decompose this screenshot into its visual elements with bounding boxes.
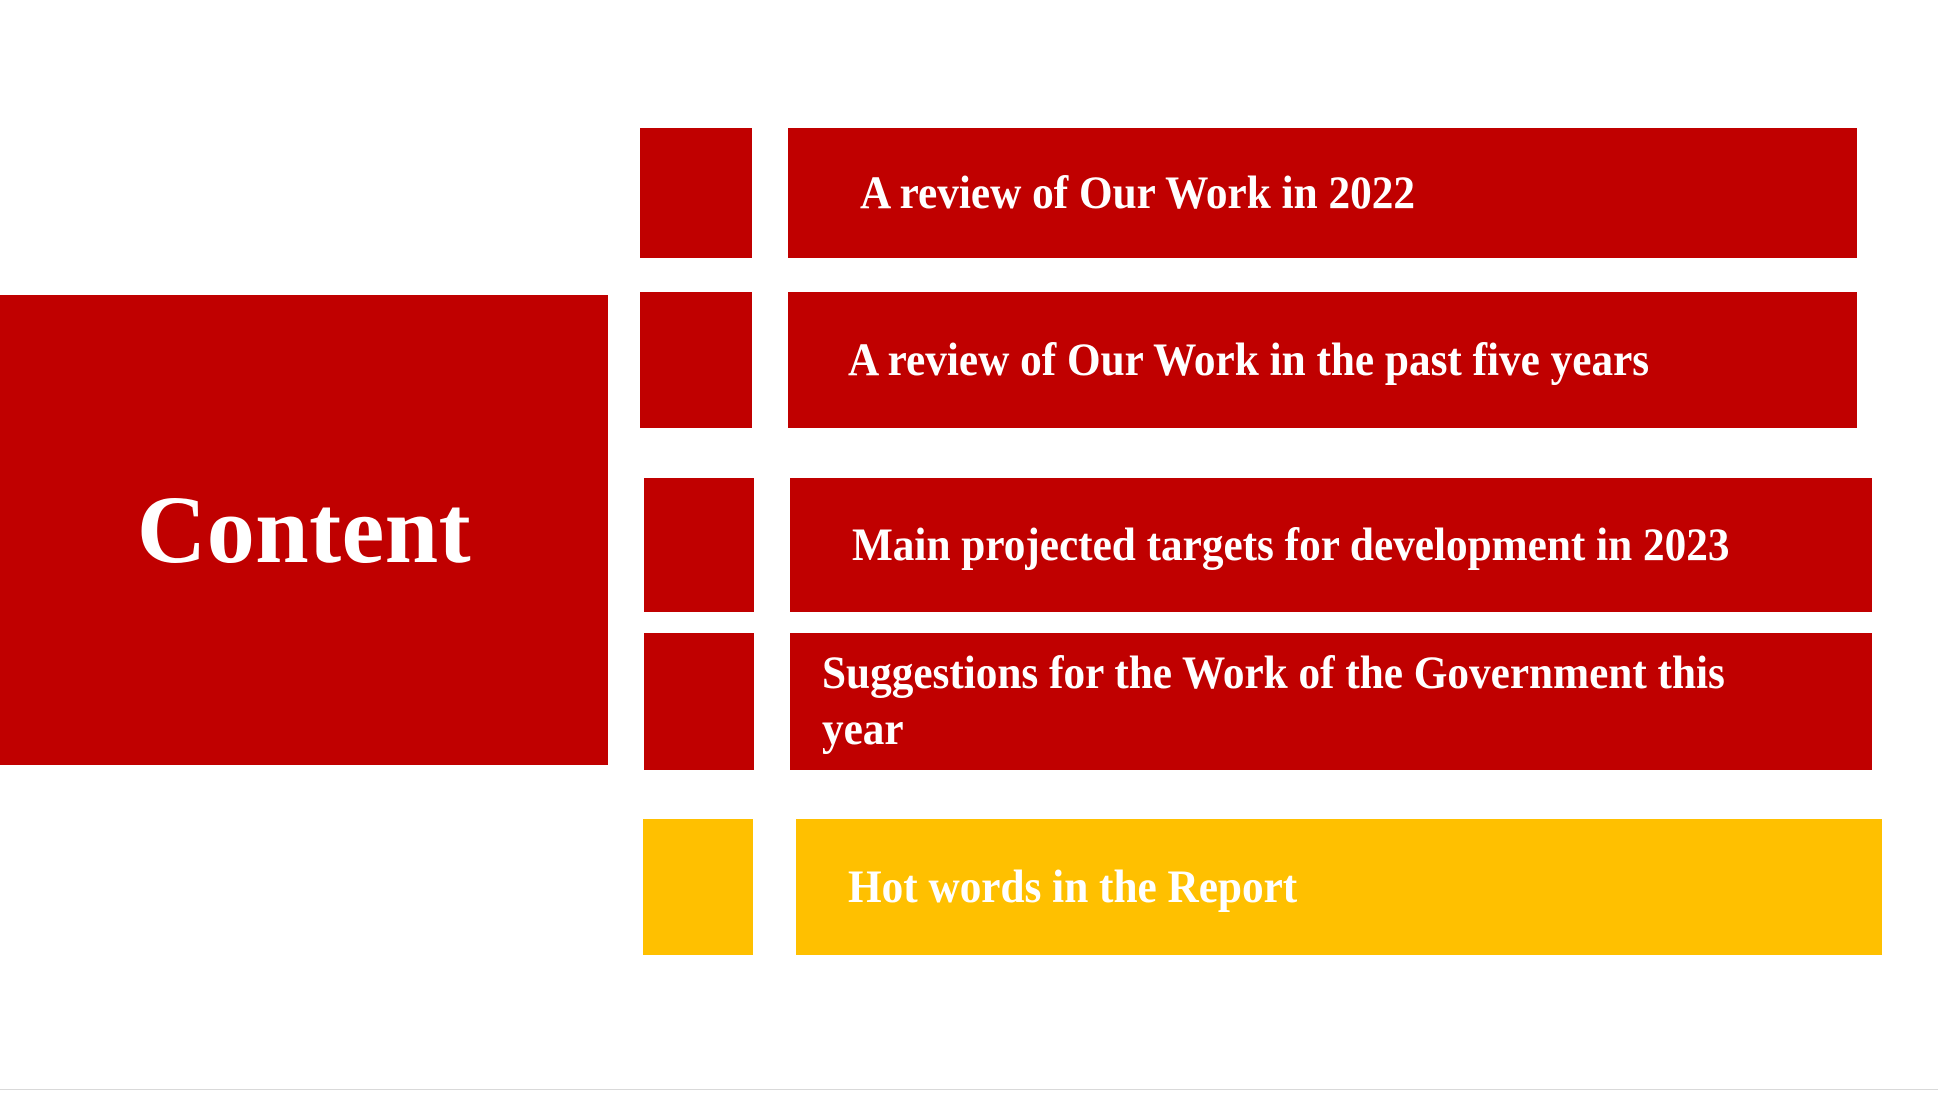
agenda-marker-5 <box>643 819 753 955</box>
slide-bottom-divider <box>0 1089 1938 1090</box>
agenda-bar-4[interactable]: Suggestions for the Work of the Governme… <box>790 633 1872 770</box>
agenda-marker-2 <box>640 292 752 428</box>
agenda-label-1: A review of Our Work in 2022 <box>860 164 1757 223</box>
agenda-label-3: Main projected targets for development i… <box>852 516 1774 575</box>
agenda-label-4: Suggestions for the Work of the Governme… <box>822 646 1771 757</box>
agenda-list: A review of Our Work in 2022 A review of… <box>0 0 1938 1095</box>
slide-canvas: Content A review of Our Work in 2022 A r… <box>0 0 1938 1095</box>
agenda-label-5: Hot words in the Report <box>848 858 1783 917</box>
agenda-bar-3[interactable]: Main projected targets for development i… <box>790 478 1872 612</box>
agenda-marker-1 <box>640 128 752 258</box>
agenda-marker-3 <box>644 478 754 612</box>
agenda-marker-4 <box>644 633 754 770</box>
agenda-bar-2[interactable]: A review of Our Work in the past five ye… <box>788 292 1857 428</box>
agenda-label-2: A review of Our Work in the past five ye… <box>848 331 1756 390</box>
agenda-bar-1[interactable]: A review of Our Work in 2022 <box>788 128 1857 258</box>
agenda-bar-5[interactable]: Hot words in the Report <box>796 819 1882 955</box>
